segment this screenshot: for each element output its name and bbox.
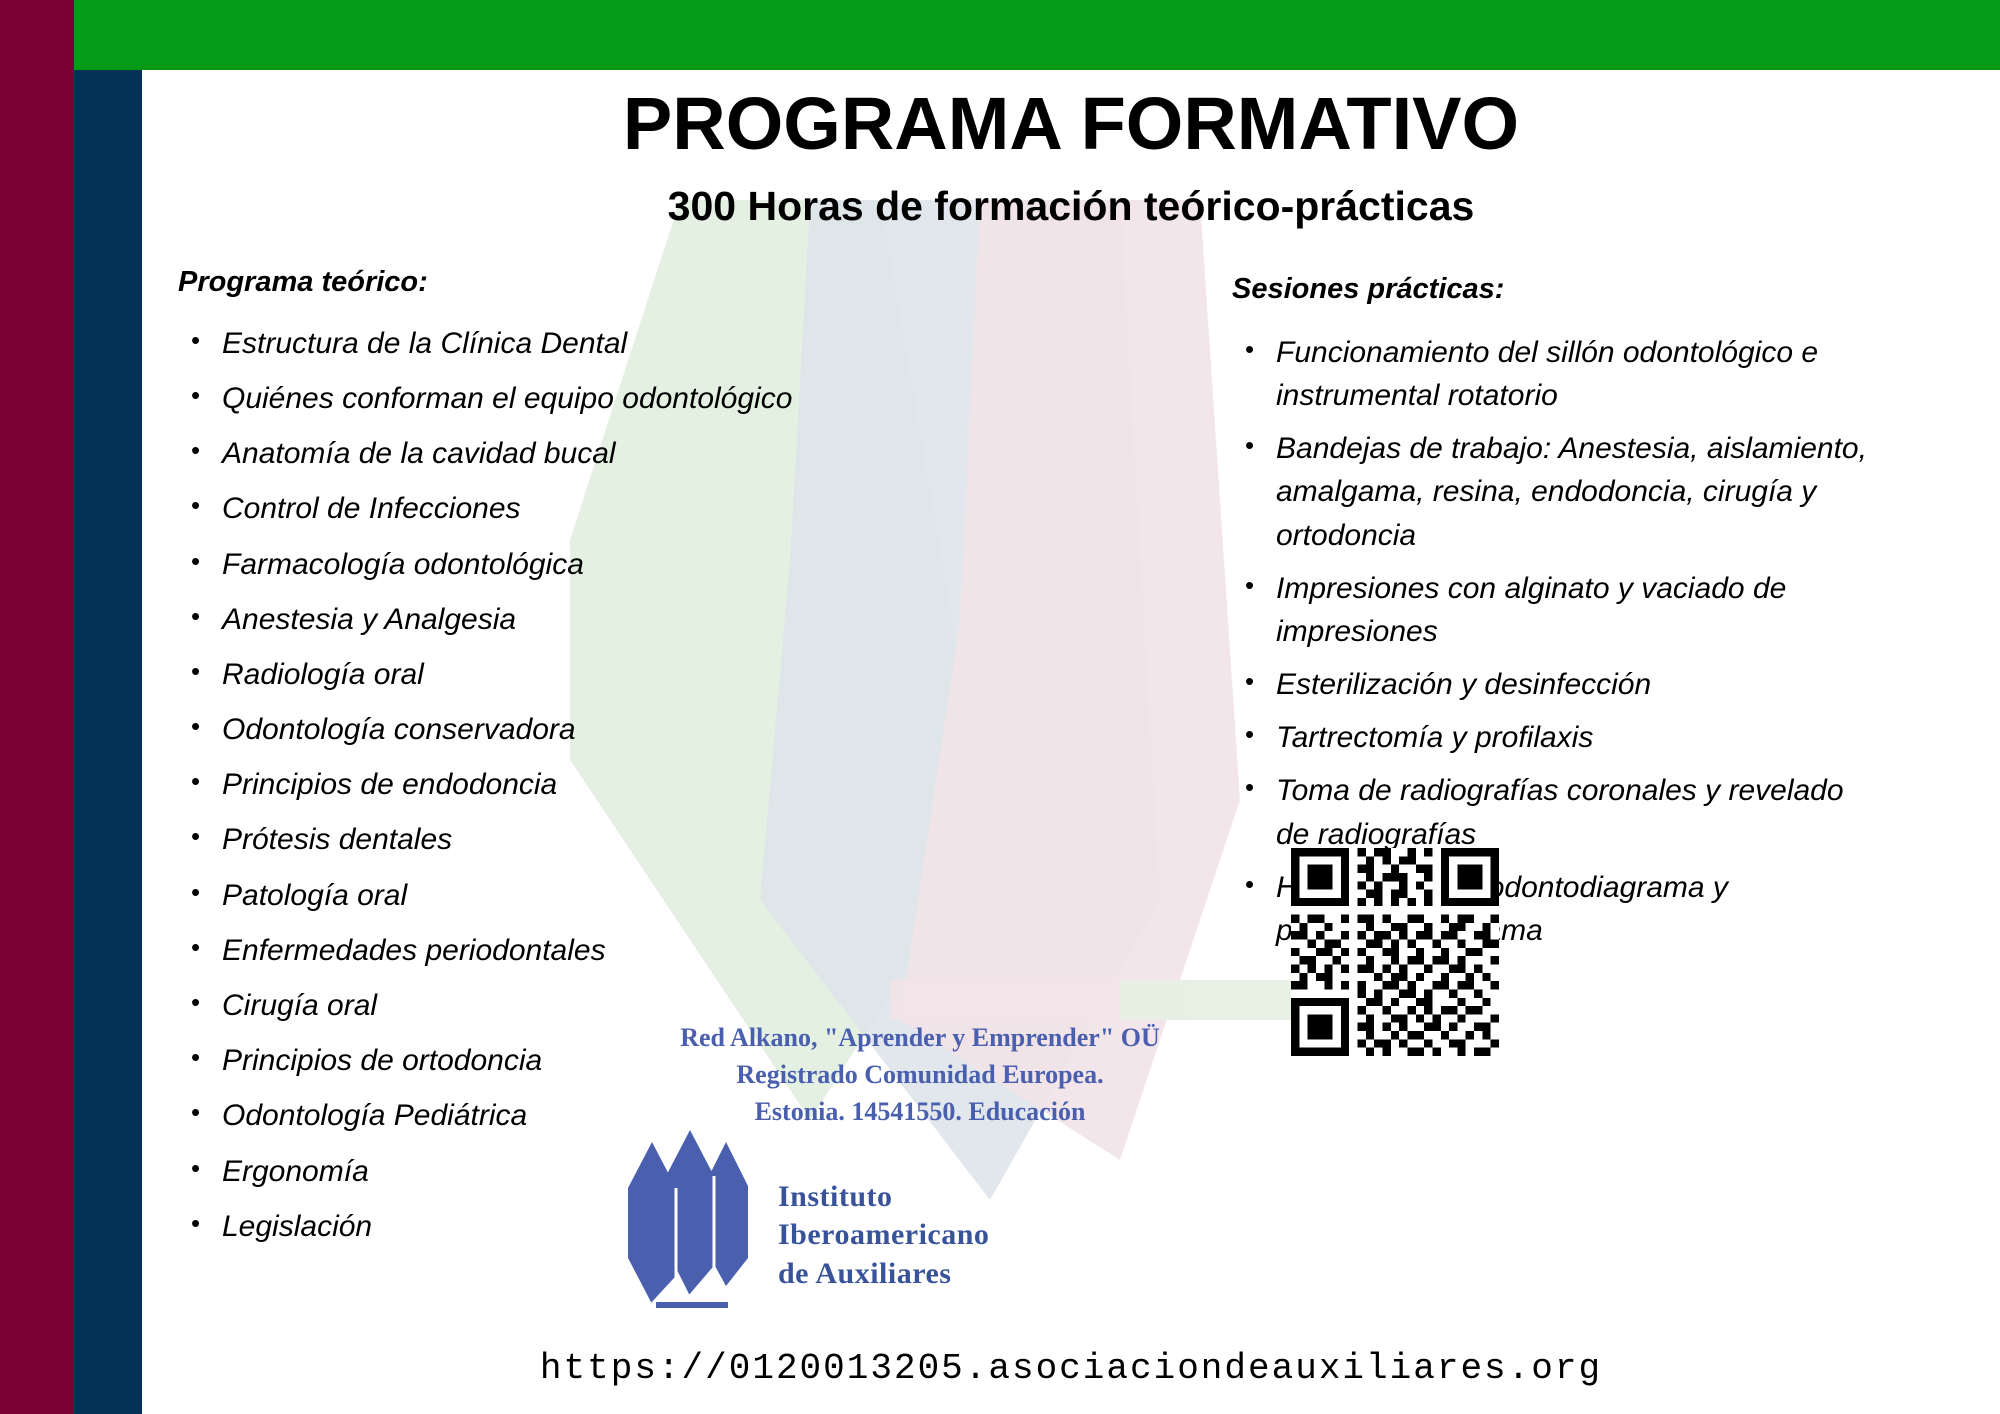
- page-subtitle: 300 Horas de formación teórico-prácticas: [142, 183, 2000, 230]
- list-item: Anatomía de la cavidad bucal: [222, 432, 798, 475]
- list-item: Bandejas de trabajo: Anestesia, aislamie…: [1276, 427, 1872, 557]
- list-item: Esterilización y desinfección: [1276, 663, 1872, 706]
- institute-logo-block: Red Alkano, "Aprender y Emprender" OÜ Re…: [600, 1020, 1240, 1320]
- list-item: Farmacología odontológica: [222, 543, 798, 586]
- list-item: Principios de endodoncia: [222, 763, 798, 806]
- list-item: Quiénes conforman el equipo odontológico: [222, 377, 798, 420]
- list-item: Enfermedades periodontales: [222, 929, 798, 972]
- list-item: Tartrectomía y profilaxis: [1276, 716, 1872, 759]
- footer-url[interactable]: https://0120013205.asociaciondeauxiliare…: [142, 1348, 2000, 1389]
- institute-name-line-3: de Auxiliares: [778, 1255, 989, 1293]
- theory-program-heading: Programa teórico:: [178, 265, 798, 300]
- list-item: Anestesia y Analgesia: [222, 598, 798, 641]
- top-green-bar: [74, 0, 2000, 70]
- list-item: Control de Infecciones: [222, 487, 798, 530]
- qr-code-icon[interactable]: [1291, 848, 1499, 1056]
- logo-line-1: Red Alkano, "Aprender y Emprender" OÜ: [600, 1020, 1240, 1057]
- institute-logo-icon: [618, 1108, 758, 1308]
- institute-name-line-2: Iberoamericano: [778, 1216, 989, 1254]
- logo-line-2: Registrado Comunidad Europea.: [600, 1057, 1240, 1094]
- institute-registration-text: Red Alkano, "Aprender y Emprender" OÜ Re…: [600, 1020, 1240, 1131]
- practical-sessions-heading: Sesiones prácticas:: [1232, 272, 1872, 307]
- left-maroon-bar: [0, 0, 74, 1414]
- left-navy-bar: [74, 70, 142, 1414]
- list-item: Radiología oral: [222, 653, 798, 696]
- institute-name: Instituto Iberoamericano de Auxiliares: [778, 1178, 989, 1293]
- list-item: Funcionamiento del sillón odontológico e…: [1276, 331, 1872, 417]
- page-title: PROGRAMA FORMATIVO: [142, 85, 2000, 163]
- list-item: Toma de radiografías coronales y revelad…: [1276, 769, 1872, 855]
- list-item: Prótesis dentales: [222, 818, 798, 861]
- list-item: Impresiones con alginato y vaciado de im…: [1276, 567, 1872, 653]
- institute-name-line-1: Instituto: [778, 1178, 989, 1216]
- logo-line-3: Estonia. 14541550. Educación: [600, 1094, 1240, 1131]
- list-item: Estructura de la Clínica Dental: [222, 322, 798, 365]
- list-item: Odontología conservadora: [222, 708, 798, 751]
- poster-page: PROGRAMA FORMATIVO 300 Horas de formació…: [0, 0, 2000, 1414]
- list-item: Patología oral: [222, 874, 798, 917]
